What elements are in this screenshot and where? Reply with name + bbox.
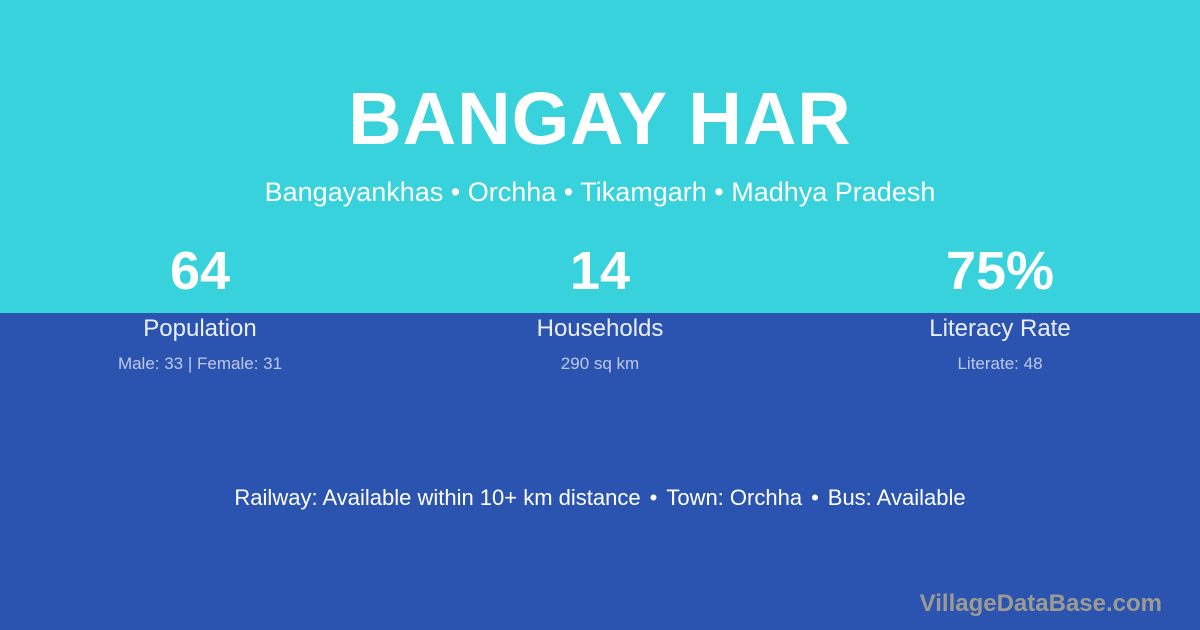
- stat-households-label: Households: [400, 316, 800, 342]
- page-title: BANGAY HAR: [0, 82, 1200, 156]
- info-separator-2: •: [802, 485, 828, 510]
- stat-population-label: Population: [0, 316, 400, 342]
- stat-households-sub: 290 sq km: [400, 355, 800, 374]
- stat-population-value: 64: [0, 243, 400, 313]
- stats-row: 64 Population Male: 33 | Female: 31 14 H…: [0, 243, 1200, 374]
- info-bus: Bus: Available: [828, 485, 966, 510]
- card-header: BANGAY HAR Bangayankhas • Orchha • Tikam…: [0, 0, 1200, 208]
- stat-population: 64 Population Male: 33 | Female: 31: [0, 243, 400, 374]
- info-town: Town: Orchha: [666, 485, 802, 510]
- brand-wordmark: VillageDataBase.com: [920, 590, 1162, 618]
- stat-literacy-rate-value: 75%: [800, 243, 1200, 313]
- info-separator-1: •: [641, 485, 667, 510]
- stat-households-value: 14: [400, 243, 800, 313]
- stat-literacy-rate: 75% Literacy Rate Literate: 48: [800, 243, 1200, 374]
- amenities-info-line: Railway: Available within 10+ km distanc…: [0, 485, 1200, 511]
- stat-households: 14 Households 290 sq km: [400, 243, 800, 374]
- stat-literacy-rate-sub: Literate: 48: [800, 355, 1200, 374]
- stat-literacy-rate-label: Literacy Rate: [800, 316, 1200, 342]
- info-railway: Railway: Available within 10+ km distanc…: [234, 485, 640, 510]
- village-info-card: BANGAY HAR Bangayankhas • Orchha • Tikam…: [0, 0, 1200, 630]
- card-footer: VillageDataBase.com: [920, 590, 1162, 618]
- stat-population-sub: Male: 33 | Female: 31: [0, 355, 400, 374]
- breadcrumb: Bangayankhas • Orchha • Tikamgarh • Madh…: [0, 178, 1200, 208]
